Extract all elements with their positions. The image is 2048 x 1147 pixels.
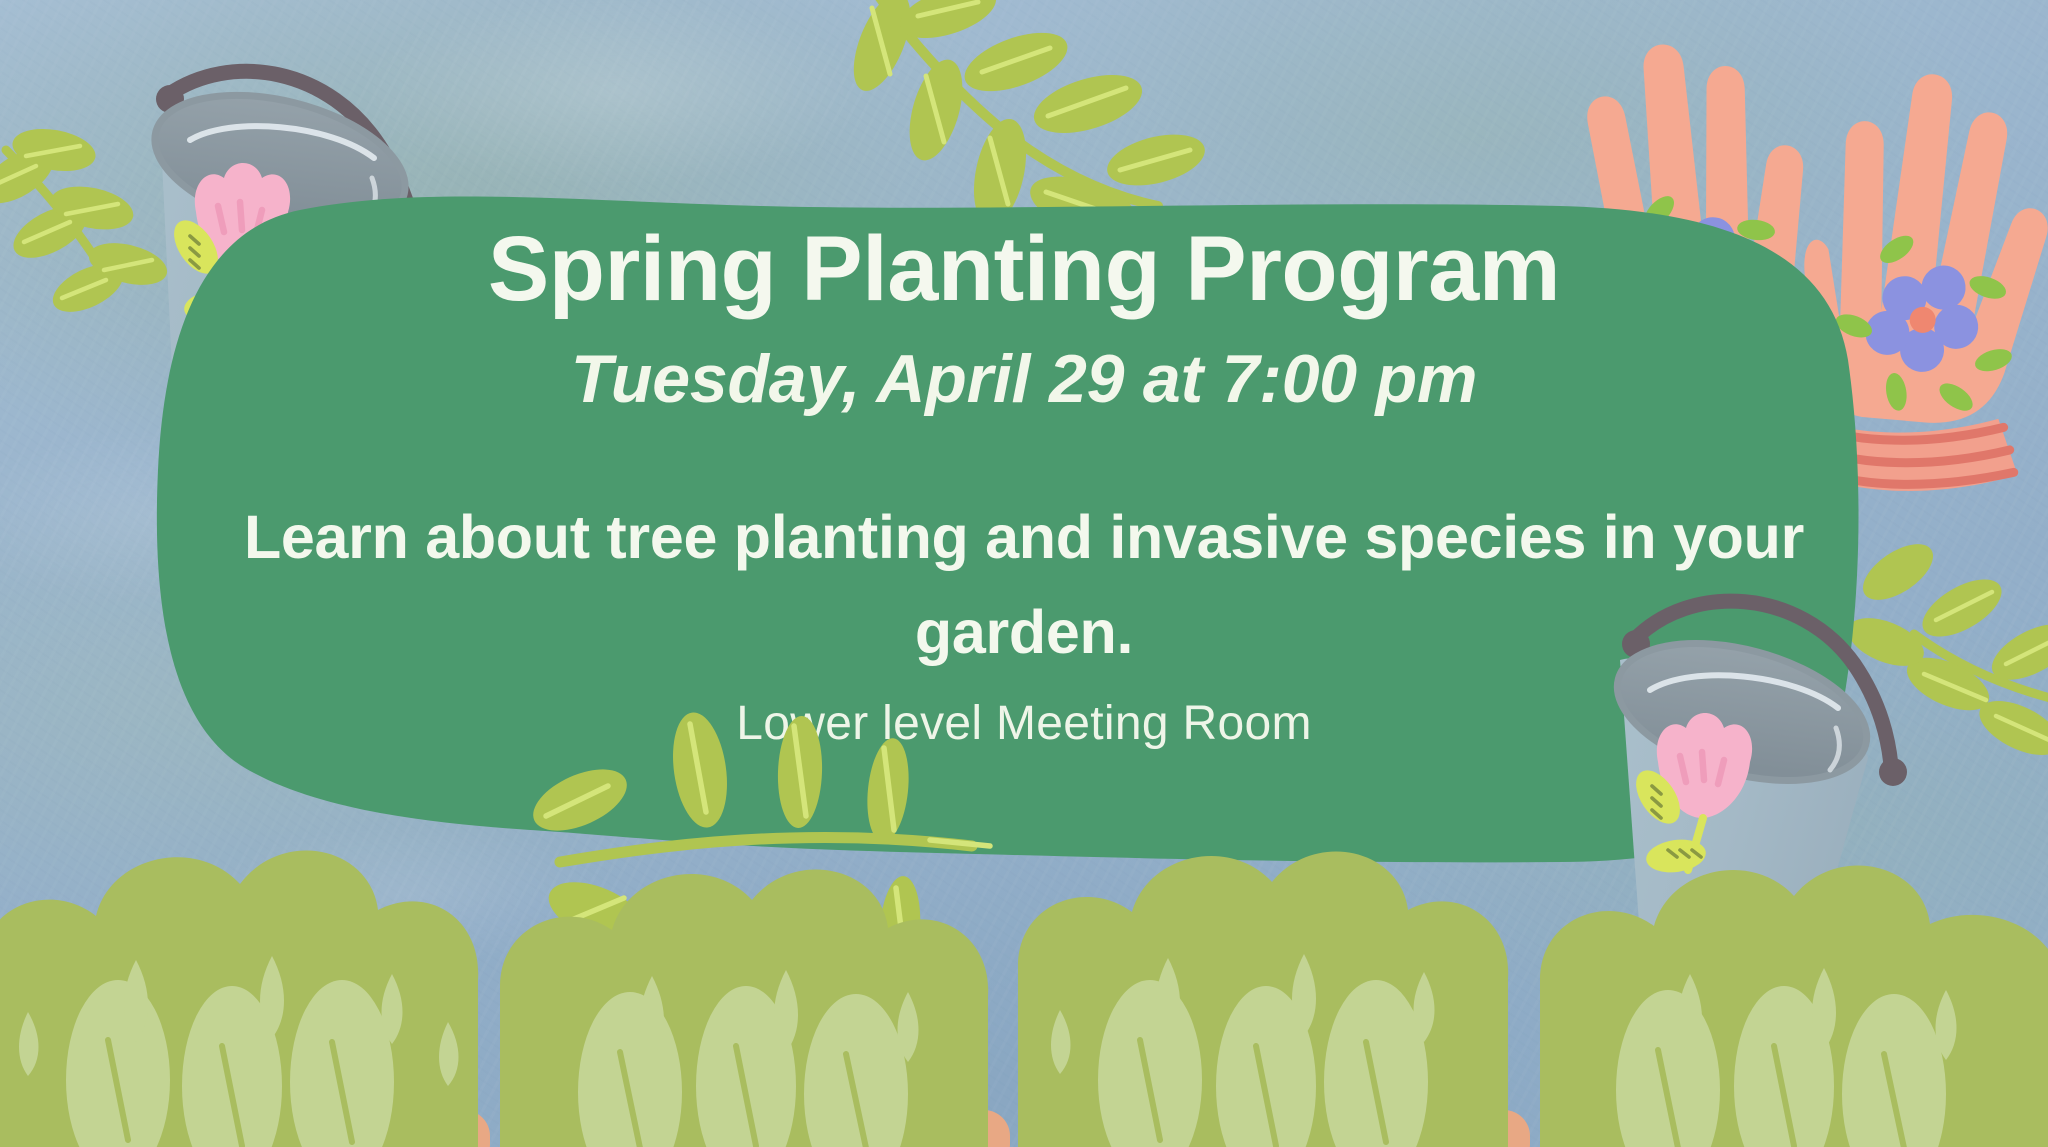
shrub-row-bottom xyxy=(0,851,2048,1147)
poster-canvas: Spring Planting Program Tuesday, April 2… xyxy=(0,0,2048,1147)
decoration-layer-front xyxy=(0,0,2048,1147)
